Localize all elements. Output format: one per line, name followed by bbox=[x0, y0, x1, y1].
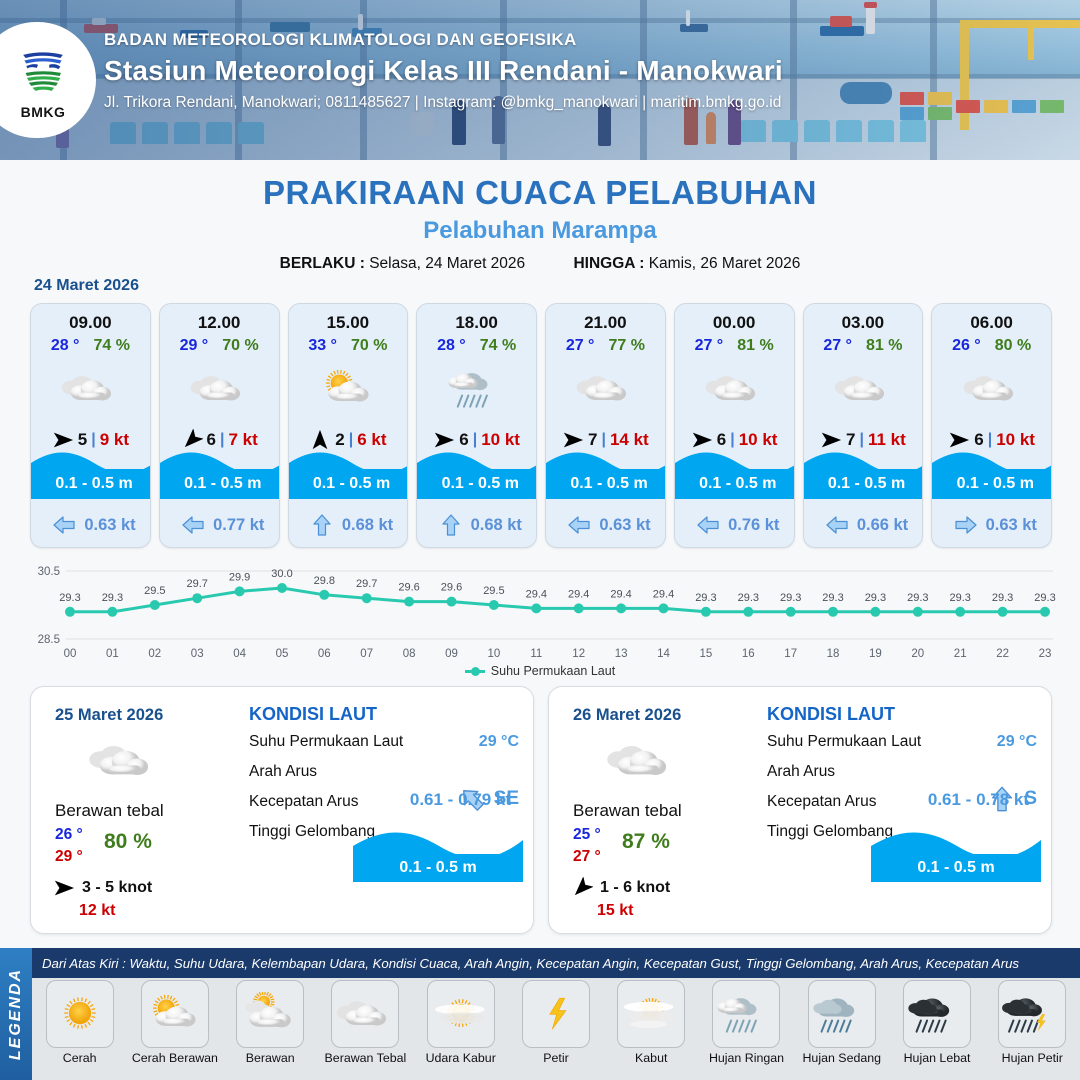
card-wave-height: 0.1 - 0.5 m bbox=[675, 469, 795, 499]
svg-text:11: 11 bbox=[530, 648, 542, 660]
berlaku-label: BERLAKU : bbox=[280, 255, 365, 272]
legenda-item: Kabut bbox=[604, 980, 699, 1080]
card-weather-icon-slot bbox=[546, 360, 665, 418]
current-speed-label: Kecepatan Arus bbox=[767, 793, 876, 810]
legenda-item: Hujan Lebat bbox=[889, 980, 984, 1080]
card-current-speed: 0.77 kt bbox=[213, 516, 264, 535]
legend-line-marker bbox=[465, 670, 485, 673]
legenda-side-label: LEGENDA bbox=[0, 948, 32, 1080]
forecast-card[interactable]: 12.00 29 ° 70 % 6 bbox=[159, 303, 280, 548]
card-time: 18.00 bbox=[417, 313, 536, 333]
card-temperature: 26 ° bbox=[952, 337, 981, 355]
legenda-icon-box bbox=[808, 980, 876, 1048]
card-wave-height: 0.1 - 0.5 m bbox=[289, 469, 409, 499]
card-weather-icon-slot bbox=[417, 360, 536, 418]
svg-text:05: 05 bbox=[276, 648, 289, 660]
svg-text:20: 20 bbox=[911, 648, 924, 660]
card-wave-zone: 0.1 - 0.5 m bbox=[31, 447, 151, 499]
validity-row: BERLAKU : Selasa, 24 Maret 2026 HINGGA :… bbox=[0, 255, 1080, 273]
forecast-card[interactable]: 00.00 27 ° 81 % 6 bbox=[674, 303, 795, 548]
panel-wave-shape: 0.1 - 0.5 m bbox=[871, 822, 1041, 882]
svg-text:29.3: 29.3 bbox=[992, 592, 1013, 604]
legenda-item: Berawan Tebal bbox=[318, 980, 413, 1080]
card-current-row: 0.76 kt bbox=[675, 513, 795, 537]
station-name: Stasiun Meteorologi Kelas III Rendani - … bbox=[104, 55, 783, 87]
sst-label: Suhu Permukaan Laut bbox=[767, 733, 921, 750]
weather-icon-berawan-tebal bbox=[188, 367, 250, 412]
current-direction-label: Arah Arus bbox=[767, 763, 835, 780]
svg-text:30.0: 30.0 bbox=[271, 568, 292, 580]
sea-conditions-title: KONDISI LAUT bbox=[767, 704, 1043, 725]
current-speed-label: Kecepatan Arus bbox=[249, 793, 358, 810]
weather-icon-berawan bbox=[239, 992, 301, 1037]
legenda-item: Hujan Petir bbox=[985, 980, 1080, 1080]
panel-humidity: 80 % bbox=[104, 830, 152, 854]
card-temperature: 27 ° bbox=[823, 337, 852, 355]
legenda-item-label: Berawan bbox=[246, 1052, 295, 1065]
card-temp-hum-row: 27 ° 81 % bbox=[675, 337, 794, 355]
svg-text:29.3: 29.3 bbox=[822, 592, 843, 604]
weather-icon-cerah bbox=[49, 992, 111, 1037]
panel-date: 26 Maret 2026 bbox=[573, 706, 681, 725]
current-direction-arrow-e-icon bbox=[52, 513, 76, 537]
sst-chart-svg: 30.528.529.30029.30129.50229.70329.90430… bbox=[0, 557, 1080, 679]
card-time: 00.00 bbox=[675, 313, 794, 333]
legenda-item-label: Hujan Lebat bbox=[904, 1052, 971, 1065]
card-wave-zone: 0.1 - 0.5 m bbox=[675, 447, 795, 499]
legenda-item-label: Kabut bbox=[635, 1052, 667, 1065]
legenda-item-label: Hujan Sedang bbox=[802, 1052, 881, 1065]
card-current-speed: 0.66 kt bbox=[857, 516, 908, 535]
card-wave-height: 0.1 - 0.5 m bbox=[932, 469, 1052, 499]
panel-wind-arrow-slot bbox=[571, 877, 593, 899]
card-temp-hum-row: 28 ° 74 % bbox=[417, 337, 536, 355]
forecast-card[interactable]: 03.00 27 ° 81 % 7 bbox=[803, 303, 924, 548]
card-humidity: 80 % bbox=[995, 337, 1031, 355]
sst-chart: 30.528.529.30029.30129.50229.70329.90430… bbox=[0, 557, 1080, 679]
weather-icon-udara-kabur bbox=[430, 992, 492, 1037]
card-temp-hum-row: 28 ° 74 % bbox=[31, 337, 150, 355]
card-current-arrow-slot bbox=[567, 513, 591, 537]
svg-text:14: 14 bbox=[657, 648, 670, 660]
hingga-label: HINGGA : bbox=[573, 255, 644, 272]
sst-label: Suhu Permukaan Laut bbox=[249, 733, 403, 750]
svg-text:29.3: 29.3 bbox=[59, 592, 80, 604]
legenda-icon-box bbox=[331, 980, 399, 1048]
legenda-item: Cerah bbox=[32, 980, 127, 1080]
current-direction-arrow-s-icon bbox=[310, 513, 334, 537]
weather-icon-petir bbox=[525, 992, 587, 1037]
svg-text:29.3: 29.3 bbox=[695, 592, 716, 604]
card-weather-icon-slot bbox=[289, 360, 408, 418]
svg-text:29.6: 29.6 bbox=[441, 582, 462, 594]
legenda-icon-box bbox=[712, 980, 780, 1048]
panel-wind-range: 1 - 6 knot bbox=[600, 879, 670, 897]
hourly-forecast-row: 09.00 28 ° 74 % 5 bbox=[30, 303, 1052, 548]
forecast-card[interactable]: 21.00 27 ° 77 % 7 bbox=[545, 303, 666, 548]
weather-icon-berawan-tebal bbox=[574, 367, 636, 412]
legenda-icon-box bbox=[236, 980, 304, 1048]
card-wave-zone: 0.1 - 0.5 m bbox=[546, 447, 666, 499]
chart-legend-label: Suhu Permukaan Laut bbox=[491, 664, 615, 678]
contact-info: Jl. Trikora Rendani, Manokwari; 08114856… bbox=[104, 94, 783, 112]
card-temperature: 28 ° bbox=[51, 337, 80, 355]
daily-forecast-panel[interactable]: 25 Maret 2026 Berawan tebal 26 ° 29 ° 80… bbox=[30, 686, 534, 934]
svg-text:29.3: 29.3 bbox=[780, 592, 801, 604]
sst-value: 29 °C bbox=[479, 733, 519, 751]
svg-text:29.4: 29.4 bbox=[568, 588, 589, 600]
legenda-item-label: Udara Kabur bbox=[426, 1052, 496, 1065]
card-temperature: 27 ° bbox=[566, 337, 595, 355]
card-temp-hum-row: 26 ° 80 % bbox=[932, 337, 1051, 355]
legenda-icon-box bbox=[903, 980, 971, 1048]
current-direction-row: Arah Arus S bbox=[767, 763, 1043, 793]
panel-humidity: 87 % bbox=[622, 830, 670, 854]
card-current-arrow-slot bbox=[52, 513, 76, 537]
panel-temp-min: 26 ° bbox=[55, 826, 83, 844]
legenda-item: Berawan bbox=[223, 980, 318, 1080]
card-humidity: 77 % bbox=[608, 337, 644, 355]
sea-conditions-title: KONDISI LAUT bbox=[249, 704, 525, 725]
berlaku-group: BERLAKU : Selasa, 24 Maret 2026 bbox=[280, 255, 526, 273]
panel-wind-row: 1 - 6 knot bbox=[571, 877, 670, 899]
panel-weather-icon-slot bbox=[604, 735, 678, 788]
card-current-arrow-slot bbox=[954, 513, 978, 537]
card-temp-hum-row: 27 ° 81 % bbox=[804, 337, 923, 355]
weather-icon-berawan-tebal bbox=[703, 367, 765, 412]
card-current-speed: 0.68 kt bbox=[471, 516, 522, 535]
sst-value: 29 °C bbox=[997, 733, 1037, 751]
header-text-block: BADAN METEOROLOGI KLIMATOLOGI DAN GEOFIS… bbox=[104, 30, 783, 112]
card-wave-height: 0.1 - 0.5 m bbox=[546, 469, 666, 499]
legenda-item-label: Hujan Petir bbox=[1002, 1052, 1063, 1065]
weather-icon-berawan-tebal bbox=[961, 367, 1023, 412]
svg-text:17: 17 bbox=[784, 648, 797, 660]
panel-sea-conditions: KONDISI LAUT Suhu Permukaan Laut 29 °C A… bbox=[767, 704, 1043, 853]
sst-row: Suhu Permukaan Laut 29 °C bbox=[767, 733, 1043, 763]
card-time: 03.00 bbox=[804, 313, 923, 333]
weather-icon-cerah-berawan bbox=[317, 367, 379, 412]
daily-forecast-panel[interactable]: 26 Maret 2026 Berawan tebal 25 ° 27 ° 87… bbox=[548, 686, 1052, 934]
bmkg-logo-icon bbox=[12, 40, 74, 102]
svg-text:06: 06 bbox=[318, 648, 331, 660]
panel-weather-icon-slot bbox=[86, 735, 160, 788]
svg-text:29.5: 29.5 bbox=[144, 585, 165, 597]
svg-text:29.4: 29.4 bbox=[526, 588, 547, 600]
svg-text:29.5: 29.5 bbox=[483, 585, 504, 597]
legenda-icon-box bbox=[998, 980, 1066, 1048]
card-humidity: 81 % bbox=[866, 337, 902, 355]
svg-text:29.3: 29.3 bbox=[907, 592, 928, 604]
legenda-note: Dari Atas Kiri : Waktu, Suhu Udara, Kele… bbox=[32, 948, 1080, 978]
hingga-group: HINGGA : Kamis, 26 Maret 2026 bbox=[573, 255, 800, 273]
card-current-speed: 0.63 kt bbox=[599, 516, 650, 535]
card-temperature: 29 ° bbox=[180, 337, 209, 355]
panel-date: 25 Maret 2026 bbox=[55, 706, 163, 725]
card-wave-zone: 0.1 - 0.5 m bbox=[804, 447, 924, 499]
legenda-item: Udara Kabur bbox=[413, 980, 508, 1080]
panel-wind-row: 3 - 5 knot bbox=[53, 877, 152, 899]
svg-text:00: 00 bbox=[64, 648, 77, 660]
legenda-icon-box bbox=[427, 980, 495, 1048]
svg-text:29.4: 29.4 bbox=[610, 588, 631, 600]
card-wave-height: 0.1 - 0.5 m bbox=[160, 469, 280, 499]
current-direction-arrow-e-icon bbox=[567, 513, 591, 537]
svg-text:29.3: 29.3 bbox=[949, 592, 970, 604]
card-current-row: 0.66 kt bbox=[804, 513, 924, 537]
weather-icon-kabut bbox=[620, 992, 682, 1037]
infographic-page: BMKG BADAN METEOROLOGI KLIMATOLOGI DAN G… bbox=[0, 0, 1080, 1080]
current-direction-row: Arah Arus SE bbox=[249, 763, 525, 793]
current-direction-label: Arah Arus bbox=[249, 763, 317, 780]
card-wave-zone: 0.1 - 0.5 m bbox=[289, 447, 409, 499]
panel-wave-value: 0.1 - 0.5 m bbox=[353, 854, 523, 882]
panel-gust: 12 kt bbox=[79, 902, 115, 920]
sst-row: Suhu Permukaan Laut 29 °C bbox=[249, 733, 525, 763]
card-current-speed: 0.76 kt bbox=[728, 516, 779, 535]
legenda-item: Petir bbox=[508, 980, 603, 1080]
card-current-arrow-slot bbox=[310, 513, 334, 537]
svg-text:23: 23 bbox=[1039, 648, 1052, 660]
card-current-row: 0.63 kt bbox=[31, 513, 151, 537]
svg-text:29.3: 29.3 bbox=[865, 592, 886, 604]
card-wave-zone: 0.1 - 0.5 m bbox=[160, 447, 280, 499]
card-temperature: 28 ° bbox=[437, 337, 466, 355]
card-current-row: 0.68 kt bbox=[417, 513, 537, 537]
svg-text:22: 22 bbox=[996, 648, 1009, 660]
forecast-card[interactable]: 09.00 28 ° 74 % 5 bbox=[30, 303, 151, 548]
current-direction-arrow-w-icon bbox=[954, 513, 978, 537]
svg-text:08: 08 bbox=[403, 648, 416, 660]
daily-forecast-panels: 25 Maret 2026 Berawan tebal 26 ° 29 ° 80… bbox=[30, 686, 1052, 934]
current-direction-arrow-e-icon bbox=[825, 513, 849, 537]
card-current-arrow-slot bbox=[181, 513, 205, 537]
legenda-item: Hujan Ringan bbox=[699, 980, 794, 1080]
card-weather-icon-slot bbox=[31, 360, 150, 418]
weather-icon-hujan-ringan bbox=[446, 367, 508, 412]
current-direction-arrow-e-icon bbox=[696, 513, 720, 537]
card-wave-zone: 0.1 - 0.5 m bbox=[932, 447, 1052, 499]
card-wave-zone: 0.1 - 0.5 m bbox=[417, 447, 537, 499]
svg-text:13: 13 bbox=[615, 648, 628, 660]
svg-text:02: 02 bbox=[148, 648, 161, 660]
legenda-item: Cerah Berawan bbox=[127, 980, 222, 1080]
card-temperature: 27 ° bbox=[695, 337, 724, 355]
legenda-item-label: Cerah bbox=[63, 1052, 97, 1065]
svg-text:30.5: 30.5 bbox=[38, 566, 60, 578]
card-weather-icon-slot bbox=[675, 360, 794, 418]
legenda-side-text: LEGENDA bbox=[7, 968, 25, 1060]
card-current-row: 0.77 kt bbox=[160, 513, 280, 537]
panel-wave-shape: 0.1 - 0.5 m bbox=[353, 822, 523, 882]
card-current-speed: 0.68 kt bbox=[342, 516, 393, 535]
legenda-section: LEGENDA Dari Atas Kiri : Waktu, Suhu Uda… bbox=[0, 948, 1080, 1080]
svg-text:29.3: 29.3 bbox=[102, 592, 123, 604]
weather-icon-hujan-ringan bbox=[715, 992, 777, 1037]
panel-temp-max: 27 ° bbox=[573, 848, 601, 866]
svg-text:21: 21 bbox=[954, 648, 967, 660]
svg-text:09: 09 bbox=[445, 648, 458, 660]
card-humidity: 81 % bbox=[737, 337, 773, 355]
legenda-icon-row: Cerah Cerah Berawan bbox=[32, 980, 1080, 1080]
card-current-row: 0.68 kt bbox=[289, 513, 409, 537]
panel-gust: 15 kt bbox=[597, 902, 633, 920]
card-temperature: 33 ° bbox=[308, 337, 337, 355]
card-wave-height: 0.1 - 0.5 m bbox=[31, 469, 151, 499]
card-time: 15.00 bbox=[289, 313, 408, 333]
svg-text:01: 01 bbox=[106, 648, 119, 660]
svg-text:29.6: 29.6 bbox=[398, 582, 419, 594]
weather-icon-berawan-tebal bbox=[334, 992, 396, 1037]
legenda-item-label: Berawan Tebal bbox=[325, 1052, 407, 1065]
weather-icon-hujan-sedang bbox=[811, 992, 873, 1037]
forecast-card[interactable]: 18.00 28 ° 74 % 6 bbox=[416, 303, 537, 548]
card-weather-icon-slot bbox=[932, 360, 1051, 418]
panel-condition: Berawan tebal bbox=[55, 801, 164, 821]
svg-text:18: 18 bbox=[827, 648, 840, 660]
card-temp-hum-row: 27 ° 77 % bbox=[546, 337, 665, 355]
hingga-value: Kamis, 26 Maret 2026 bbox=[649, 255, 801, 272]
svg-text:15: 15 bbox=[700, 648, 713, 660]
svg-text:28.5: 28.5 bbox=[38, 634, 60, 646]
svg-text:29.7: 29.7 bbox=[186, 578, 207, 590]
card-temp-hum-row: 29 ° 70 % bbox=[160, 337, 279, 355]
current-speed-value: 0.61 - 0.78 kt bbox=[928, 790, 1029, 810]
forecast-card[interactable]: 15.00 33 ° 70 % 2 | 6 kt bbox=[288, 303, 409, 548]
svg-text:10: 10 bbox=[488, 648, 501, 660]
card-time: 21.00 bbox=[546, 313, 665, 333]
svg-text:29.4: 29.4 bbox=[653, 588, 674, 600]
berlaku-value: Selasa, 24 Maret 2026 bbox=[369, 255, 525, 272]
legenda-icon-box bbox=[141, 980, 209, 1048]
weather-icon-berawan-tebal bbox=[86, 735, 160, 788]
legenda-item-label: Petir bbox=[543, 1052, 568, 1065]
card-current-arrow-slot bbox=[825, 513, 849, 537]
panel-wind-arrow-slot bbox=[53, 877, 75, 899]
card-time: 09.00 bbox=[31, 313, 150, 333]
legenda-icon-box bbox=[46, 980, 114, 1048]
svg-text:29.3: 29.3 bbox=[1034, 592, 1055, 604]
legenda-icon-box bbox=[522, 980, 590, 1048]
card-weather-icon-slot bbox=[804, 360, 923, 418]
agency-name: BADAN METEOROLOGI KLIMATOLOGI DAN GEOFIS… bbox=[104, 30, 783, 50]
svg-text:03: 03 bbox=[191, 648, 204, 660]
card-weather-icon-slot bbox=[160, 360, 279, 418]
wind-direction-arrow-sw-icon bbox=[571, 877, 593, 899]
card-current-row: 0.63 kt bbox=[932, 513, 1052, 537]
card-wave-height: 0.1 - 0.5 m bbox=[417, 469, 537, 499]
card-current-speed: 0.63 kt bbox=[986, 516, 1037, 535]
wind-direction-arrow-e-icon bbox=[53, 877, 75, 899]
card-current-row: 0.63 kt bbox=[546, 513, 666, 537]
svg-text:07: 07 bbox=[360, 648, 373, 660]
svg-text:12: 12 bbox=[572, 648, 585, 660]
legenda-item: Hujan Sedang bbox=[794, 980, 889, 1080]
weather-icon-berawan-tebal bbox=[604, 735, 678, 788]
svg-text:29.9: 29.9 bbox=[229, 571, 250, 583]
panel-sea-conditions: KONDISI LAUT Suhu Permukaan Laut 29 °C A… bbox=[249, 704, 525, 853]
panel-condition: Berawan tebal bbox=[573, 801, 682, 821]
port-name: Pelabuhan Marampa bbox=[0, 217, 1080, 245]
card-wave-height: 0.1 - 0.5 m bbox=[804, 469, 924, 499]
page-title: PRAKIRAAN CUACA PELABUHAN bbox=[0, 174, 1080, 212]
current-direction-arrow-s-icon bbox=[439, 513, 463, 537]
card-current-speed: 0.63 kt bbox=[84, 516, 135, 535]
current-speed-value: 0.61 - 0.79 kt bbox=[410, 790, 511, 810]
panel-temp-min: 25 ° bbox=[573, 826, 601, 844]
chart-legend: Suhu Permukaan Laut bbox=[0, 664, 1080, 678]
bmkg-logo-label: BMKG bbox=[21, 104, 66, 120]
weather-icon-berawan-tebal bbox=[832, 367, 894, 412]
forecast-date-label: 24 Maret 2026 bbox=[34, 277, 139, 295]
card-time: 06.00 bbox=[932, 313, 1051, 333]
card-time: 12.00 bbox=[160, 313, 279, 333]
svg-text:04: 04 bbox=[233, 648, 246, 660]
card-humidity: 70 % bbox=[351, 337, 387, 355]
panel-temp-max: 29 ° bbox=[55, 848, 83, 866]
svg-text:29.8: 29.8 bbox=[314, 575, 335, 587]
svg-text:16: 16 bbox=[742, 648, 755, 660]
legenda-item-label: Hujan Ringan bbox=[709, 1052, 784, 1065]
title-block: PRAKIRAAN CUACA PELABUHAN Pelabuhan Mara… bbox=[0, 174, 1080, 273]
weather-icon-hujan-lebat bbox=[906, 992, 968, 1037]
weather-icon-hujan-petir bbox=[1001, 992, 1063, 1037]
card-humidity: 74 % bbox=[480, 337, 516, 355]
card-current-arrow-slot bbox=[439, 513, 463, 537]
card-temp-hum-row: 33 ° 70 % bbox=[289, 337, 408, 355]
legenda-item-label: Cerah Berawan bbox=[132, 1052, 218, 1065]
panel-wave-value: 0.1 - 0.5 m bbox=[871, 854, 1041, 882]
svg-text:29.7: 29.7 bbox=[356, 578, 377, 590]
panel-wind-range: 3 - 5 knot bbox=[82, 879, 152, 897]
card-humidity: 74 % bbox=[93, 337, 129, 355]
weather-icon-berawan-tebal bbox=[59, 367, 121, 412]
page-header: BMKG BADAN METEOROLOGI KLIMATOLOGI DAN G… bbox=[0, 0, 1080, 160]
weather-icon-cerah-berawan bbox=[144, 992, 206, 1037]
svg-text:19: 19 bbox=[869, 648, 882, 660]
legenda-icon-box bbox=[617, 980, 685, 1048]
card-humidity: 70 % bbox=[222, 337, 258, 355]
forecast-card[interactable]: 06.00 26 ° 80 % 6 bbox=[931, 303, 1052, 548]
current-direction-arrow-e-icon bbox=[181, 513, 205, 537]
card-current-arrow-slot bbox=[696, 513, 720, 537]
svg-text:29.3: 29.3 bbox=[738, 592, 759, 604]
